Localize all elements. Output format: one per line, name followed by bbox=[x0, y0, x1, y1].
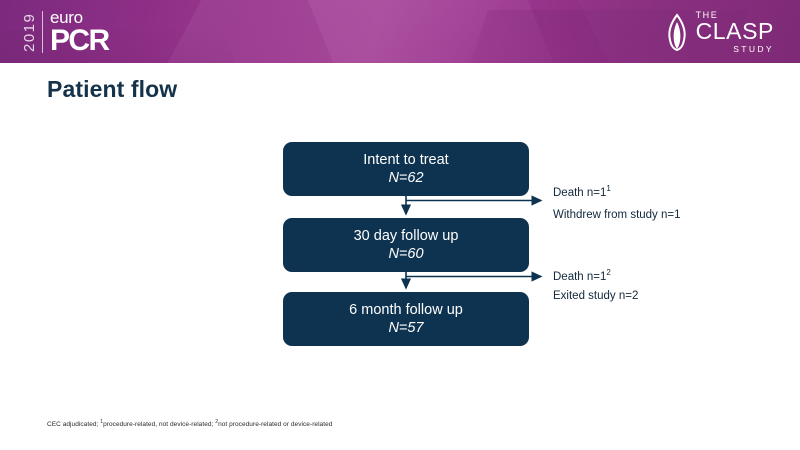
clasp-wordmark: THE CLASP STUDY bbox=[696, 11, 774, 53]
flow-box-count: N=57 bbox=[388, 319, 423, 337]
flow-box-count: N=62 bbox=[388, 169, 423, 187]
clasp-study-label: STUDY bbox=[696, 45, 774, 54]
flow-box-label: 6 month follow up bbox=[349, 301, 463, 319]
branch-1-death-text: Death n=1 bbox=[553, 187, 606, 199]
branch-2-death-superscript: 2 bbox=[606, 268, 610, 277]
clasp-name-label: CLASP bbox=[696, 21, 774, 43]
slide-footnote: CEC adjudicated; 1procedure-related, not… bbox=[47, 419, 332, 428]
branch-1-note-death: Death n=11 bbox=[553, 185, 611, 199]
footnote-part-1: CEC adjudicated; bbox=[47, 421, 100, 428]
footnote-part-2: procedure-related, not device-related; bbox=[103, 421, 215, 428]
europcr-prefix: euro bbox=[50, 9, 109, 26]
page-title: Patient flow bbox=[47, 76, 177, 103]
slide-header-band: 2019 euro PCR THE CLASP STUDY bbox=[0, 0, 800, 63]
footnote-part-3: not procedure-related or device-related bbox=[218, 421, 332, 428]
branch-2-note-exited: Exited study n=2 bbox=[553, 290, 638, 302]
europcr-main: PCR bbox=[50, 26, 109, 56]
branch-1-death-superscript: 1 bbox=[606, 184, 610, 193]
europcr-wordmark: euro PCR bbox=[50, 9, 109, 56]
branch-2-note-death: Death n=12 bbox=[553, 269, 611, 283]
clasp-tulip-icon bbox=[664, 13, 690, 51]
flow-box-6-month-follow-up[interactable]: 6 month follow up N=57 bbox=[283, 292, 529, 346]
flow-box-label: 30 day follow up bbox=[354, 227, 459, 245]
flow-box-intent-to-treat[interactable]: Intent to treat N=62 bbox=[283, 142, 529, 196]
flow-box-label: Intent to treat bbox=[363, 151, 448, 169]
clasp-study-logo: THE CLASP STUDY bbox=[664, 11, 774, 53]
branch-2-death-text: Death n=1 bbox=[553, 271, 606, 283]
flow-box-30-day-follow-up[interactable]: 30 day follow up N=60 bbox=[283, 218, 529, 272]
flow-box-count: N=60 bbox=[388, 245, 423, 263]
europcr-logo: 2019 euro PCR bbox=[22, 9, 109, 55]
europcr-year: 2019 bbox=[22, 10, 37, 54]
branch-1-note-withdrew: Withdrew from study n=1 bbox=[553, 209, 681, 221]
logo-divider bbox=[42, 11, 43, 53]
